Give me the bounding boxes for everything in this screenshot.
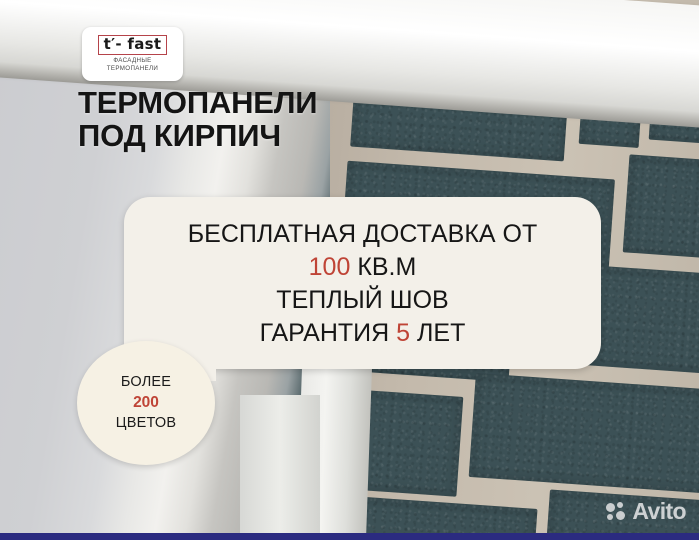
colors-badge: БОЛЕЕ 200 ЦВЕТОВ — [77, 341, 215, 465]
offer-warranty-suffix: ЛЕТ — [410, 319, 465, 347]
advertisement-image: t′- fast ФАСАДНЫЕ ТЕРМОПАНЕЛИ ТЕРМОПАНЕЛ… — [0, 0, 699, 540]
offer-line-warranty: ГАРАНТИЯ 5 ЛЕТ — [260, 317, 466, 349]
brand-logo-card: t′- fast ФАСАДНЫЕ ТЕРМОПАНЕЛИ — [82, 27, 183, 81]
offer-line-delivery: БЕСПЛАТНАЯ ДОСТАВКА ОТ — [188, 218, 538, 250]
bottom-color-strip — [0, 533, 699, 540]
offer-line-area: 100 КВ.М — [309, 251, 417, 283]
brick — [623, 154, 699, 259]
headline: ТЕРМОПАНЕЛИ ПОД КИРПИЧ — [78, 86, 317, 153]
headline-line-1: ТЕРМОПАНЕЛИ — [78, 86, 317, 119]
offer-line-warm-seam: ТЕПЛЫЙ ШОВ — [276, 284, 448, 316]
offer-warranty-prefix: ГАРАНТИЯ — [260, 319, 397, 347]
brand-logo-subtitle-line1: ФАСАДНЫЕ — [113, 57, 151, 64]
brand-logo-mark: t′- fast — [98, 35, 168, 55]
offer-area-value: 100 — [309, 253, 351, 281]
colors-badge-line-1: БОЛЕЕ — [121, 373, 171, 393]
avito-logo-icon — [606, 502, 628, 521]
brand-logo-subtitle: ФАСАДНЫЕ ТЕРМОПАНЕЛИ — [107, 57, 158, 74]
offer-warranty-value: 5 — [396, 319, 410, 347]
avito-watermark: Avito — [606, 500, 686, 523]
avito-wordmark: Avito — [632, 500, 686, 523]
brick — [469, 373, 699, 495]
colors-badge-value: 200 — [133, 392, 159, 413]
brand-logo-subtitle-line2: ТЕРМОПАНЕЛИ — [107, 65, 158, 72]
offer-area-unit: КВ.М — [350, 253, 416, 281]
headline-line-2: ПОД КИРПИЧ — [78, 119, 317, 152]
panel-insulation-edge-lower — [240, 395, 320, 540]
colors-badge-line-3: ЦВЕТОВ — [116, 414, 176, 434]
